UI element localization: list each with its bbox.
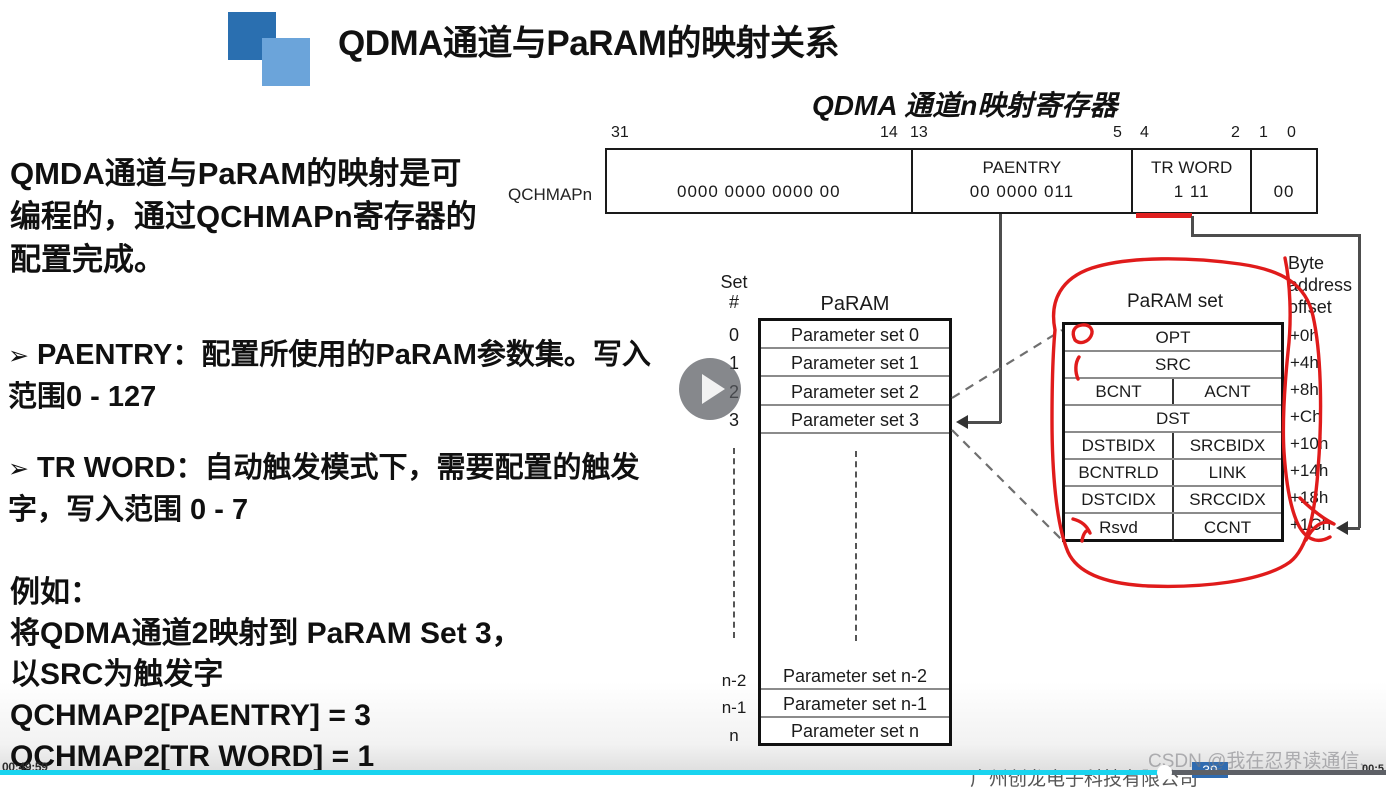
param-table-box: Parameter set 0 Parameter set 1 Paramete…: [758, 318, 952, 746]
bit-label-13: 13: [910, 124, 928, 142]
connector-trword-vertical-a: [1191, 216, 1194, 236]
example-line-2: 以SRC为触发字: [10, 654, 670, 695]
example-line-3: QCHMAP2[PAENTRY] = 3: [10, 695, 670, 736]
bit-label-31: 31: [611, 124, 629, 142]
bit-label-0: 0: [1287, 124, 1296, 142]
param-set-field: SRCCIDX: [1174, 487, 1281, 512]
set-index-n-2: n-2: [716, 668, 752, 694]
param-set-row-dst: DST: [1065, 406, 1281, 433]
offset-4h: +4h: [1290, 349, 1360, 376]
bit-label-5: 5: [1113, 124, 1122, 142]
param-set-row-src: SRC: [1065, 352, 1281, 379]
page-title: QDMA通道与PaRAM的映射关系: [338, 20, 958, 68]
param-set-detail-header: PaRAM set: [1110, 291, 1240, 313]
connector-paentry-horizontal: [968, 421, 1001, 424]
register-field-trword: TR WORD 1 11: [1133, 150, 1252, 212]
param-set-row-bcnt-acnt: BCNT ACNT: [1065, 379, 1281, 406]
offset-ch: +Ch: [1290, 403, 1360, 430]
param-set-row-opt: OPT: [1065, 325, 1281, 352]
set-index-0: 0: [716, 322, 752, 348]
register-field-value: 0000 0000 0000 00: [677, 182, 841, 212]
param-set-field: DSTCIDX: [1065, 487, 1174, 512]
param-set-field: DSTBIDX: [1065, 433, 1174, 458]
register-field-name: PAENTRY: [913, 158, 1132, 177]
slide-stage: QDMA通道与PaRAM的映射关系 QMDA通道与PaRAM的映射是可编程的，通…: [0, 0, 1386, 775]
param-set-detail-box: OPT SRC BCNT ACNT DST DSTBIDX SRCBIDX BC…: [1062, 322, 1284, 542]
trword-red-underline: [1136, 213, 1192, 218]
param-set-field: CCNT: [1174, 514, 1281, 541]
progress-bar-fill[interactable]: [0, 770, 1164, 775]
set-index-n: n: [716, 723, 752, 749]
set-index-n-1: n-1: [716, 695, 752, 721]
bullet-marker-icon: ➢: [8, 455, 29, 483]
register-field-low: 00: [1252, 150, 1316, 212]
register-field-reserved: 0000 0000 0000 00: [607, 150, 913, 212]
register-diagram-title: QDMA 通道n映射寄存器: [812, 84, 1117, 124]
param-set-field: SRC: [1065, 352, 1281, 377]
logo-square-light: [262, 38, 310, 86]
param-row-0: Parameter set 0: [761, 321, 949, 349]
connector-paentry-vertical: [999, 214, 1002, 423]
register-field-paentry: PAENTRY 00 0000 011: [913, 150, 1134, 212]
param-row-3: Parameter set 3: [761, 406, 949, 434]
example-line-1: 将QDMA通道2映射到 PaRAM Set 3，: [10, 613, 670, 654]
bullet-term: TR WORD：: [37, 452, 205, 484]
param-table-ellipsis-icon: [855, 451, 857, 641]
example-heading: 例如：: [10, 572, 670, 613]
param-set-row-bcntrld-link: BCNTRLD LINK: [1065, 460, 1281, 487]
offset-0h: +0h: [1290, 322, 1360, 349]
bit-label-1: 1: [1259, 124, 1268, 142]
set-header-line-2: #: [716, 292, 752, 312]
offset-18h: +18h: [1290, 484, 1360, 511]
byte-address-offset-label: Byte address offset: [1288, 252, 1362, 318]
byte-offset-column: +0h +4h +8h +Ch +10h +14h +18h +1Ch: [1290, 322, 1360, 538]
register-field-value: 00: [1274, 182, 1295, 212]
param-row-1: Parameter set 1: [761, 349, 949, 377]
register-field-box: 0000 0000 0000 00 PAENTRY 00 0000 011 TR…: [605, 148, 1318, 214]
param-set-field: LINK: [1174, 460, 1281, 485]
param-set-field: SRCBIDX: [1174, 433, 1281, 458]
param-set-field: BCNT: [1065, 379, 1174, 404]
offset-1ch: +1Ch: [1290, 511, 1360, 538]
bit-label-14: 14: [880, 124, 898, 142]
param-set-number-header: Set #: [716, 272, 752, 312]
set-index-ellipsis-icon: [733, 448, 735, 638]
param-set-field: OPT: [1065, 325, 1281, 350]
intro-paragraph: QMDA通道与PaRAM的映射是可编程的，通过QCHMAPn寄存器的配置完成。: [10, 152, 480, 281]
play-icon[interactable]: [702, 374, 725, 404]
param-set-field: ACNT: [1174, 379, 1281, 404]
set-header-line-1: Set: [716, 272, 752, 292]
bullet-marker-icon: ➢: [8, 342, 29, 370]
param-row-2: Parameter set 2: [761, 378, 949, 406]
csdn-watermark: CSDN @我在忍界读通信、: [1148, 746, 1378, 773]
param-set-row-dstcidx-srccidx: DSTCIDX SRCCIDX: [1065, 487, 1281, 514]
register-name-label: QCHMAPn: [508, 185, 592, 205]
param-row-n-2: Parameter set n-2: [761, 662, 949, 690]
register-field-value: 00 0000 011: [970, 182, 1074, 212]
param-set-row-rsvd-ccnt: Rsvd CCNT: [1065, 514, 1281, 541]
bullet-paentry: ➢ PAENTRY：配置所使用的PaRAM参数集。写入范围0 - 127: [8, 335, 658, 418]
bit-label-2: 2: [1231, 124, 1240, 142]
register-field-value: 1 11: [1174, 182, 1210, 212]
example-block: 例如： 将QDMA通道2映射到 PaRAM Set 3， 以SRC为触发字 QC…: [10, 572, 670, 777]
param-row-n: Parameter set n: [761, 717, 949, 745]
connector-paentry-arrowhead-icon: [956, 415, 968, 429]
connector-trword-horizontal-top: [1191, 234, 1360, 237]
offset-14h: +14h: [1290, 457, 1360, 484]
param-set-row-dstbidx-srcbidx: DSTBIDX SRCBIDX: [1065, 433, 1281, 460]
param-set-field: Rsvd: [1065, 514, 1174, 541]
param-set-field: BCNTRLD: [1065, 460, 1174, 485]
param-row-n-1: Parameter set n-1: [761, 690, 949, 718]
bullet-trword: ➢ TR WORD：自动触发模式下，需要配置的触发字，写入范围 0 - 7: [8, 448, 658, 531]
bit-label-4: 4: [1140, 124, 1149, 142]
offset-8h: +8h: [1290, 376, 1360, 403]
register-field-name: TR WORD: [1133, 158, 1250, 177]
param-table-header: PaRAM: [790, 293, 920, 316]
offset-10h: +10h: [1290, 430, 1360, 457]
bullet-term: PAENTRY：: [37, 339, 201, 371]
param-set-field: DST: [1065, 406, 1281, 431]
